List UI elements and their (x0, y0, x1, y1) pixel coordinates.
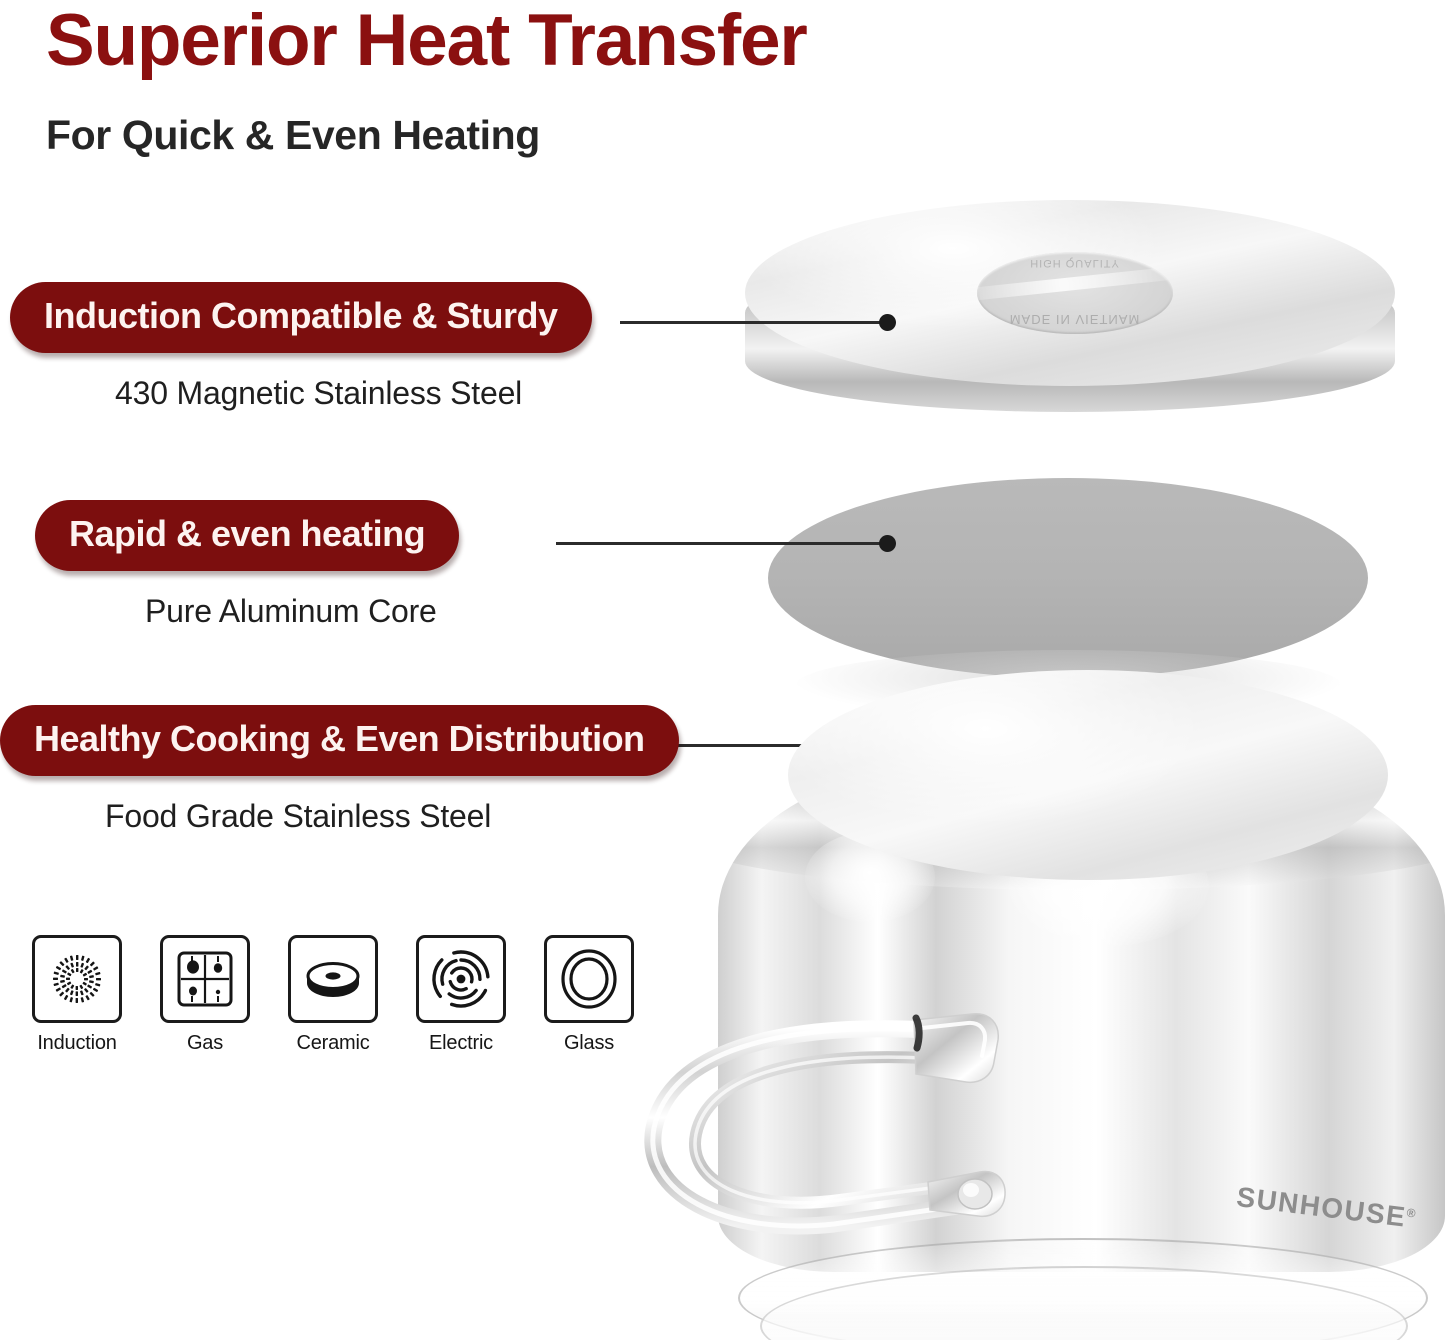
leader-line-2 (556, 542, 892, 545)
infographic-page: Superior Heat Transfer For Quick & Even … (0, 0, 1445, 1340)
feature-badge-3: Healthy Cooking & Even Distribution (0, 705, 679, 776)
leader-dot-2 (879, 535, 896, 552)
emboss-text-top: HIGH QUALITY (977, 257, 1173, 269)
steel-disc-emboss: HIGH QUALITY MADE IN VIETNAM (977, 252, 1173, 334)
feature-caption-3: Food Grade Stainless Steel (105, 798, 679, 835)
stainless-steel-disc-layer: HIGH QUALITY MADE IN VIETNAM (745, 200, 1395, 440)
feature-block-1: Induction Compatible & Sturdy 430 Magnet… (10, 282, 592, 412)
feature-badge-2: Rapid & even heating (35, 500, 459, 571)
page-title: Superior Heat Transfer (46, 2, 807, 81)
feature-badge-1: Induction Compatible & Sturdy (10, 282, 592, 353)
leader-dot-1 (879, 314, 896, 331)
compat-label-induction: Induction (37, 1032, 116, 1055)
pot-base-face (788, 670, 1388, 880)
feature-block-2: Rapid & even heating Pure Aluminum Core (35, 500, 459, 630)
compat-item-ceramic: Ceramic (286, 935, 380, 1055)
leader-line-1 (620, 321, 892, 324)
compat-label-ceramic: Ceramic (296, 1032, 369, 1055)
compat-item-electric: Electric (414, 935, 508, 1055)
aluminum-core-disc-layer (768, 478, 1368, 678)
brand-registered-mark: ® (1406, 1206, 1418, 1221)
feature-caption-2: Pure Aluminum Core (145, 593, 459, 630)
compat-item-glass: Glass (542, 935, 636, 1055)
compat-item-gas: Gas (158, 935, 252, 1055)
emboss-text-bottom: MADE IN VIETNAM (977, 312, 1173, 327)
compat-label-gas: Gas (187, 1032, 223, 1055)
gas-burner-icon (160, 935, 250, 1023)
compat-item-induction: Induction (30, 935, 124, 1055)
page-subtitle: For Quick & Even Heating (46, 112, 540, 159)
compatibility-icons-row: Induction Gas (30, 935, 636, 1055)
electric-coil-icon (416, 935, 506, 1023)
pot-body-layer: SUNHOUSE® (688, 670, 1445, 1340)
ceramic-hob-icon (288, 935, 378, 1023)
feature-caption-1: 430 Magnetic Stainless Steel (115, 375, 592, 412)
compat-label-glass: Glass (564, 1032, 614, 1055)
glass-hob-icon (544, 935, 634, 1023)
induction-icon (32, 935, 122, 1023)
pot-handle (628, 1000, 1008, 1260)
feature-block-3: Healthy Cooking & Even Distribution Food… (0, 705, 679, 835)
compat-label-electric: Electric (429, 1032, 493, 1055)
